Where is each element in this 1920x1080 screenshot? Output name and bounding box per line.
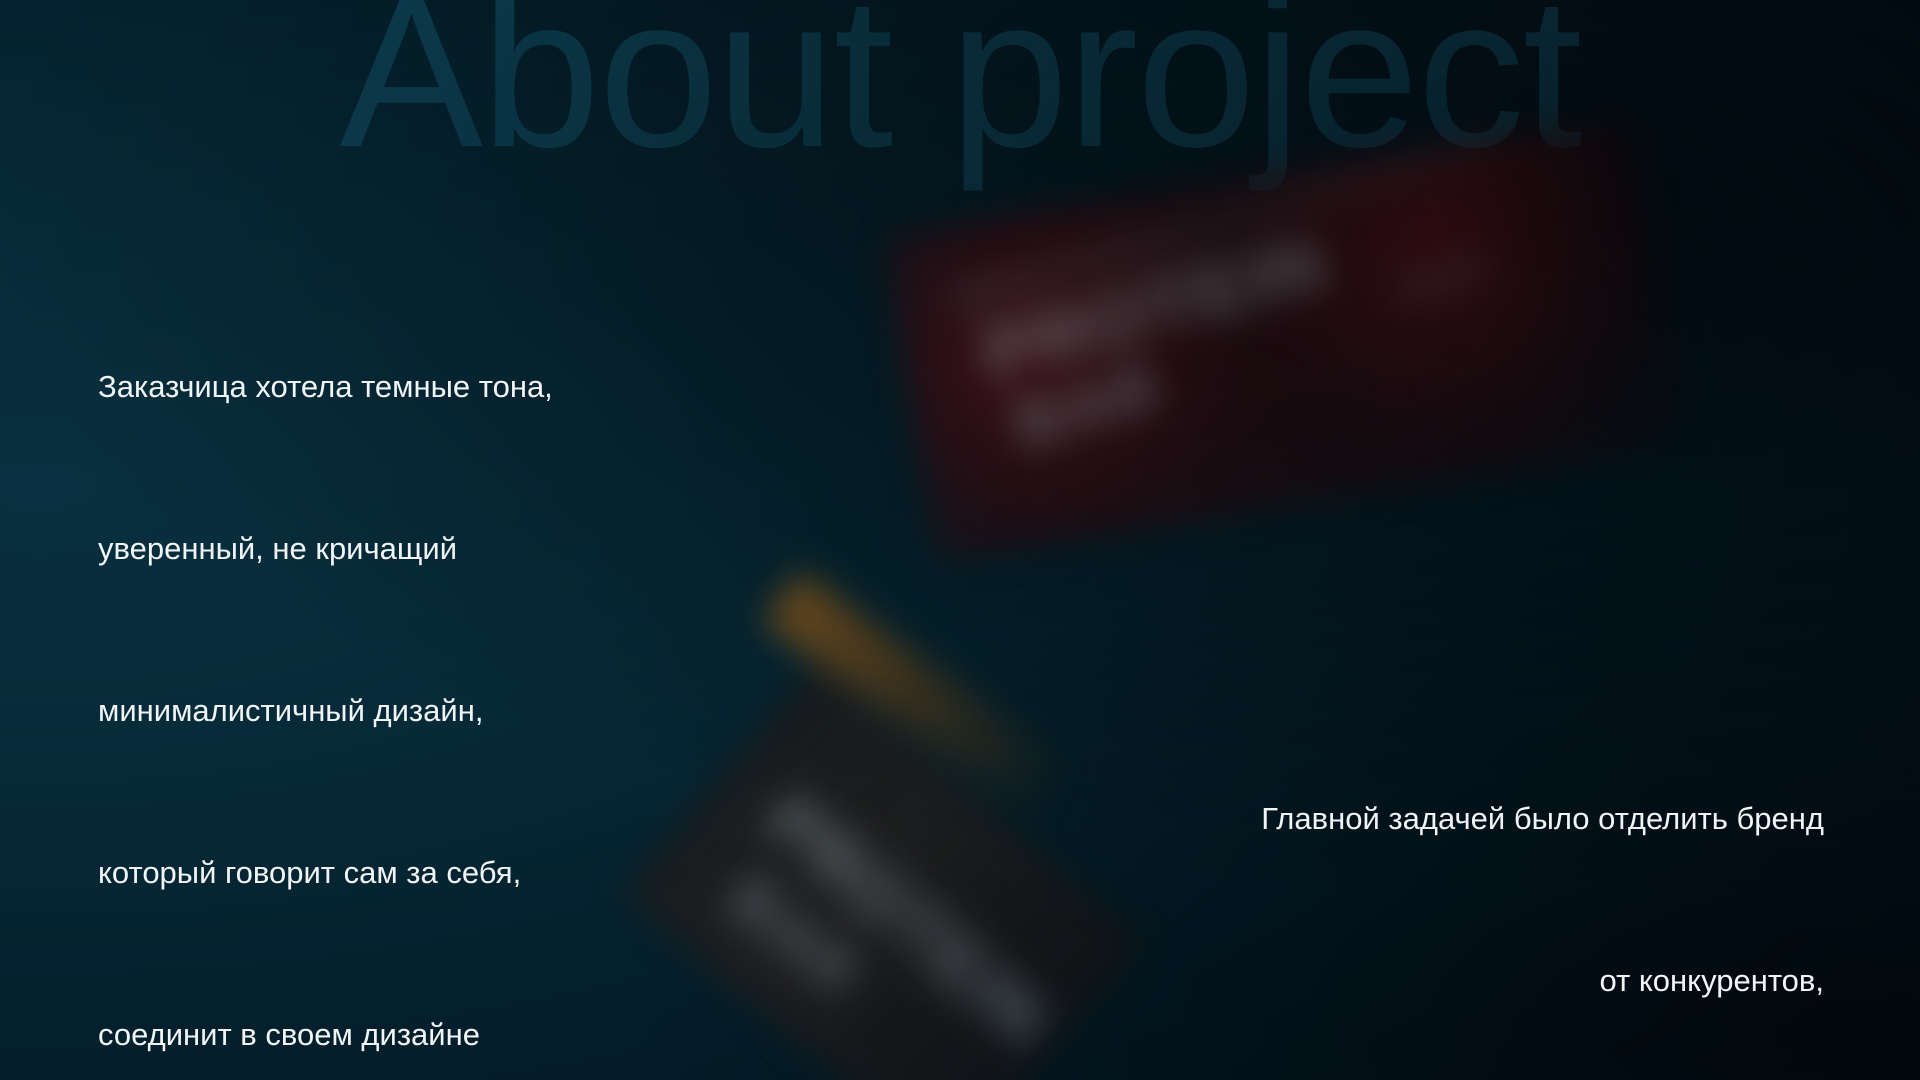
text-line: Главной задачей было отделить бренд (874, 792, 1824, 846)
text-line: от конкурентов, (874, 954, 1824, 1008)
package-label-bar: BAR (1005, 348, 1169, 462)
slide-about-project: About project PROTEIN BAR BAR PROTEIN BA… (0, 0, 1920, 1080)
about-paragraph-right: Главной задачей было отделить бренд от к… (874, 684, 1824, 1080)
text-line: который говорит сам за себя, (98, 846, 798, 900)
text-line: Заказчица хотела темные тона, (98, 360, 798, 414)
package-label-side: BAR (1393, 246, 1492, 315)
page-title: About project (0, 0, 1920, 179)
text-line: соединит в своем дизайне (98, 1008, 798, 1062)
text-line: уверенный, не кричащий (98, 522, 798, 576)
package-label-protein: PROTEIN (973, 218, 1335, 399)
about-paragraph-left: Заказчица хотела темные тона, уверенный,… (98, 252, 798, 1080)
text-line: минималистичный дизайн, (98, 684, 798, 738)
